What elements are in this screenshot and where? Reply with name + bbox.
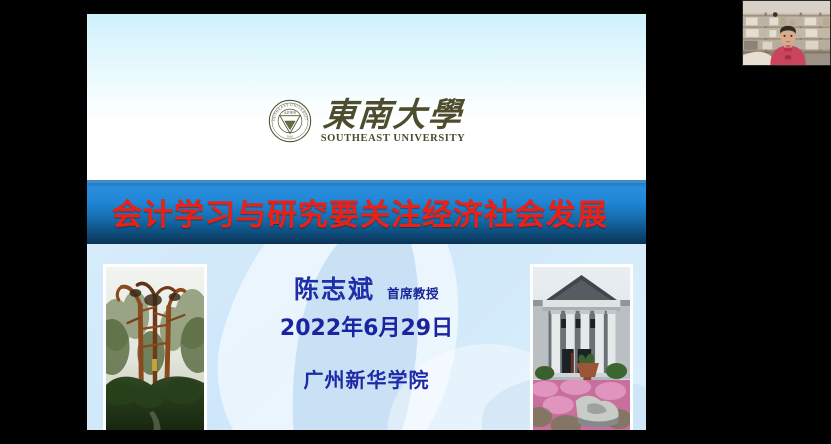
campus-building-photo bbox=[530, 264, 633, 430]
slide-footer-panel: 陈志斌 首席教授 2022年6月29日 广州新华学院 bbox=[87, 244, 646, 430]
campus-sculpture-photo bbox=[103, 264, 207, 430]
svg-text:止於至善: 止於至善 bbox=[284, 110, 296, 115]
university-logo: SOUTHEAST UNIVERSITY 1902 止於至善 東南大學 SOUT… bbox=[87, 98, 646, 145]
slide-title-text: 会计学习与研究要关注经济社会发展 bbox=[87, 190, 608, 234]
sculpture-image bbox=[106, 267, 204, 430]
presenter-name: 陈志斌 bbox=[294, 270, 375, 306]
logo-chinese-name: 東南大學 bbox=[322, 98, 464, 131]
southeast-university-seal-icon: SOUTHEAST UNIVERSITY 1902 止於至善 bbox=[268, 99, 312, 143]
logo-text-block: 東南大學 SOUTHEAST UNIVERSITY bbox=[321, 98, 466, 145]
logo-english-name: SOUTHEAST UNIVERSITY bbox=[321, 134, 466, 145]
presentation-screen: SOUTHEAST UNIVERSITY 1902 止於至善 東南大學 SOUT… bbox=[0, 0, 831, 444]
slide-title-band: 会计学习与研究要关注经济社会发展 bbox=[87, 180, 646, 244]
slide-header-panel: SOUTHEAST UNIVERSITY 1902 止於至善 東南大學 SOUT… bbox=[87, 14, 646, 180]
webcam-video-frame bbox=[743, 1, 830, 65]
svg-text:1902: 1902 bbox=[286, 135, 294, 139]
building-image bbox=[533, 267, 630, 430]
presenter-webcam-feed[interactable] bbox=[742, 0, 831, 66]
slide-canvas[interactable]: SOUTHEAST UNIVERSITY 1902 止於至善 東南大學 SOUT… bbox=[87, 14, 646, 430]
presenter-rank: 首席教授 bbox=[387, 283, 439, 302]
